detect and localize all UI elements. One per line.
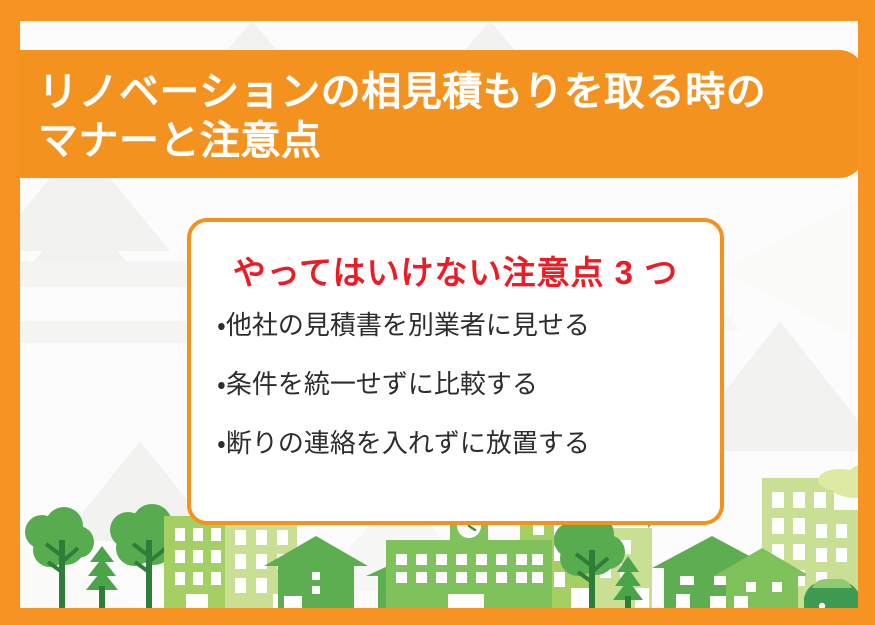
card-heading: やってはいけない注意点 3 つ [191, 246, 720, 294]
title-banner: リノベーションの相見積もりを取る時の マナーと注意点 [20, 50, 858, 178]
pine-tree-icon [86, 546, 118, 608]
slide-stage: リノベーションの相見積もりを取る時の マナーと注意点 やってはいけない注意点 3… [20, 21, 858, 608]
notice-card: やってはいけない注意点 3 つ ・他社の見積書を別業者に見せる ・条件を統一せず… [187, 218, 724, 525]
page-title: リノベーションの相見積もりを取る時の マナーと注意点 [38, 68, 766, 166]
list-item: ・条件を統一せずに比較する [217, 371, 702, 397]
tree-group-left [25, 504, 183, 608]
list-item: ・他社の見積書を別業者に見せる [217, 312, 702, 338]
slide-canvas: リノベーションの相見積もりを取る時の マナーと注意点 やってはいけない注意点 3… [0, 0, 875, 625]
list-item: ・断りの連絡を入れずに放置する [217, 430, 702, 456]
tree-icon [25, 507, 94, 608]
notice-bullet-list: ・他社の見積書を別業者に見せる ・条件を統一せずに比較する ・断りの連絡を入れず… [217, 312, 702, 489]
apartment-building [164, 516, 228, 608]
